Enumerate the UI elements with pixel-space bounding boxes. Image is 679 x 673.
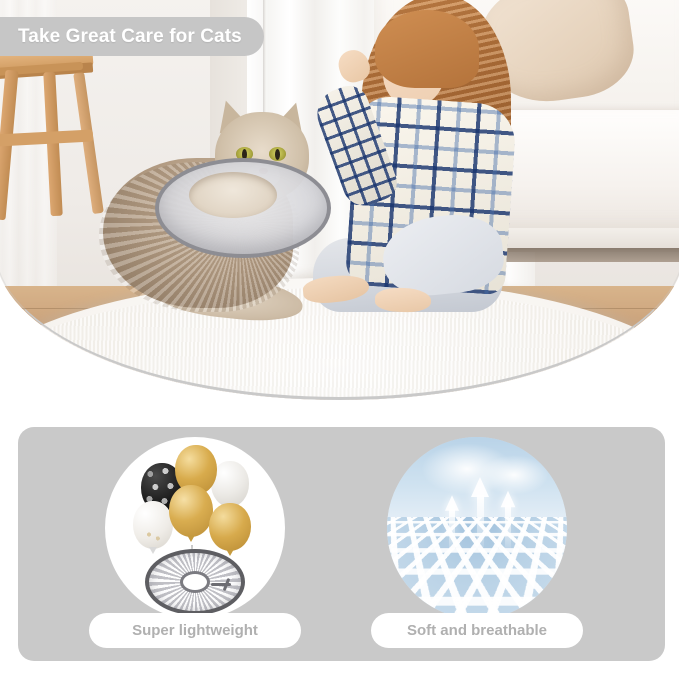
airflow-arrow-center-icon (471, 477, 489, 497)
caption-label-breathable: Soft and breathable (407, 622, 547, 639)
caption-label-lightweight: Super lightweight (132, 622, 258, 639)
caption-pill-lightweight: Super lightweight (89, 613, 301, 648)
girl-hair-front (375, 10, 479, 88)
gold-balloon-middle-icon (169, 485, 213, 537)
cat-cone-neck-opening (189, 172, 277, 218)
hero-photo-clip (0, 0, 679, 400)
cone-neck-hole (180, 571, 210, 593)
airflow-arrow-stem-center (477, 495, 484, 547)
cat (103, 100, 333, 315)
airflow-arrow-stem-right (505, 505, 511, 549)
airflow-arrow-left-icon (445, 495, 459, 511)
girl-foot-right (375, 287, 432, 313)
lightweight-illustration (105, 437, 285, 619)
white-confetti-balloon-icon (133, 501, 173, 549)
living-room-scene (0, 0, 679, 400)
breathable-illustration (387, 437, 567, 619)
cat-pupil-right (275, 149, 280, 160)
cone-collar-top-view-icon (145, 549, 245, 615)
cloud-right (479, 455, 549, 495)
hero-photo (0, 0, 679, 400)
title-banner: Take Great Care for Cats (0, 17, 264, 56)
feature-panel: Super lightweight Soft and breathable (18, 427, 665, 661)
airflow-arrow-right-icon (501, 491, 516, 507)
girl (321, 0, 591, 318)
page-title: Take Great Care for Cats (18, 26, 242, 48)
feature-soft-and-breathable: Soft and breathable (364, 427, 590, 661)
balloon-bunch-icon (129, 445, 259, 543)
gold-balloon-right-icon (209, 503, 251, 551)
airflow-arrow-stem-left (449, 509, 455, 551)
caption-pill-breathable: Soft and breathable (371, 613, 583, 648)
product-feature-page: Take Great Care for Cats (0, 0, 679, 673)
feature-super-lightweight: Super lightweight (82, 427, 308, 661)
